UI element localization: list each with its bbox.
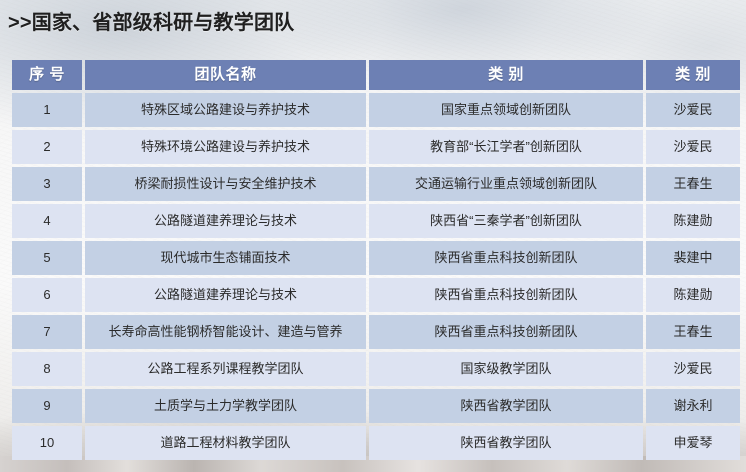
cell-team-name: 桥梁耐损性设计与安全维护技术 [85,167,366,201]
table-row[interactable]: 9土质学与土力学教学团队陕西省教学团队谢永利 [12,389,740,423]
table-row[interactable]: 8公路工程系列课程教学团队国家级教学团队沙爱民 [12,352,740,386]
page-content: >>国家、省部级科研与教学团队 序 号 团队名称 类 别 类 别 1特殊区域公路… [0,0,746,472]
cell-team-name: 特殊区域公路建设与养护技术 [85,93,366,127]
cell-team-name: 现代城市生态铺面技术 [85,241,366,275]
cell-index: 4 [12,204,82,238]
cell-team-name: 公路隧道建养理论与技术 [85,278,366,312]
table-row[interactable]: 10道路工程材料教学团队陕西省教学团队申爱琴 [12,426,740,460]
table-row[interactable]: 2特殊环境公路建设与养护技术教育部“长江学者”创新团队沙爱民 [12,130,740,164]
cell-index: 10 [12,426,82,460]
cell-leader: 谢永利 [646,389,740,423]
cell-team-name: 道路工程材料教学团队 [85,426,366,460]
table-body: 1特殊区域公路建设与养护技术国家重点领域创新团队沙爱民2特殊环境公路建设与养护技… [12,93,740,460]
table-header-row: 序 号 团队名称 类 别 类 别 [12,60,740,90]
cell-category: 陕西省重点科技创新团队 [369,315,643,349]
cell-leader: 陈建勋 [646,204,740,238]
cell-category: 陕西省教学团队 [369,389,643,423]
column-header-leader[interactable]: 类 别 [646,60,740,90]
cell-index: 6 [12,278,82,312]
cell-team-name: 公路隧道建养理论与技术 [85,204,366,238]
table-row[interactable]: 7长寿命高性能钢桥智能设计、建造与管养陕西省重点科技创新团队王春生 [12,315,740,349]
research-teams-table: 序 号 团队名称 类 别 类 别 1特殊区域公路建设与养护技术国家重点领域创新团… [9,57,743,463]
cell-leader: 沙爱民 [646,352,740,386]
cell-leader: 沙爱民 [646,130,740,164]
cell-team-name: 公路工程系列课程教学团队 [85,352,366,386]
cell-leader: 沙爱民 [646,93,740,127]
column-header-team-name[interactable]: 团队名称 [85,60,366,90]
cell-leader: 裴建中 [646,241,740,275]
cell-leader: 陈建勋 [646,278,740,312]
table-row[interactable]: 1特殊区域公路建设与养护技术国家重点领域创新团队沙爱民 [12,93,740,127]
cell-team-name: 土质学与土力学教学团队 [85,389,366,423]
cell-index: 7 [12,315,82,349]
cell-category: 国家级教学团队 [369,352,643,386]
cell-category: 陕西省教学团队 [369,426,643,460]
table-row[interactable]: 3桥梁耐损性设计与安全维护技术交通运输行业重点领域创新团队王春生 [12,167,740,201]
column-header-index[interactable]: 序 号 [12,60,82,90]
table-header: 序 号 团队名称 类 别 类 别 [12,60,740,90]
cell-category: 陕西省重点科技创新团队 [369,278,643,312]
cell-index: 9 [12,389,82,423]
cell-leader: 申爱琴 [646,426,740,460]
page-title: >>国家、省部级科研与教学团队 [8,9,294,37]
cell-team-name: 长寿命高性能钢桥智能设计、建造与管养 [85,315,366,349]
table-row[interactable]: 5现代城市生态铺面技术陕西省重点科技创新团队裴建中 [12,241,740,275]
cell-index: 5 [12,241,82,275]
cell-category: 教育部“长江学者”创新团队 [369,130,643,164]
column-header-category[interactable]: 类 别 [369,60,643,90]
cell-team-name: 特殊环境公路建设与养护技术 [85,130,366,164]
cell-leader: 王春生 [646,315,740,349]
table-row[interactable]: 6公路隧道建养理论与技术陕西省重点科技创新团队陈建勋 [12,278,740,312]
cell-index: 8 [12,352,82,386]
table-row[interactable]: 4公路隧道建养理论与技术陕西省“三秦学者”创新团队陈建勋 [12,204,740,238]
cell-index: 1 [12,93,82,127]
cell-leader: 王春生 [646,167,740,201]
cell-index: 2 [12,130,82,164]
cell-category: 陕西省“三秦学者”创新团队 [369,204,643,238]
cell-category: 陕西省重点科技创新团队 [369,241,643,275]
cell-category: 交通运输行业重点领域创新团队 [369,167,643,201]
cell-category: 国家重点领域创新团队 [369,93,643,127]
cell-index: 3 [12,167,82,201]
